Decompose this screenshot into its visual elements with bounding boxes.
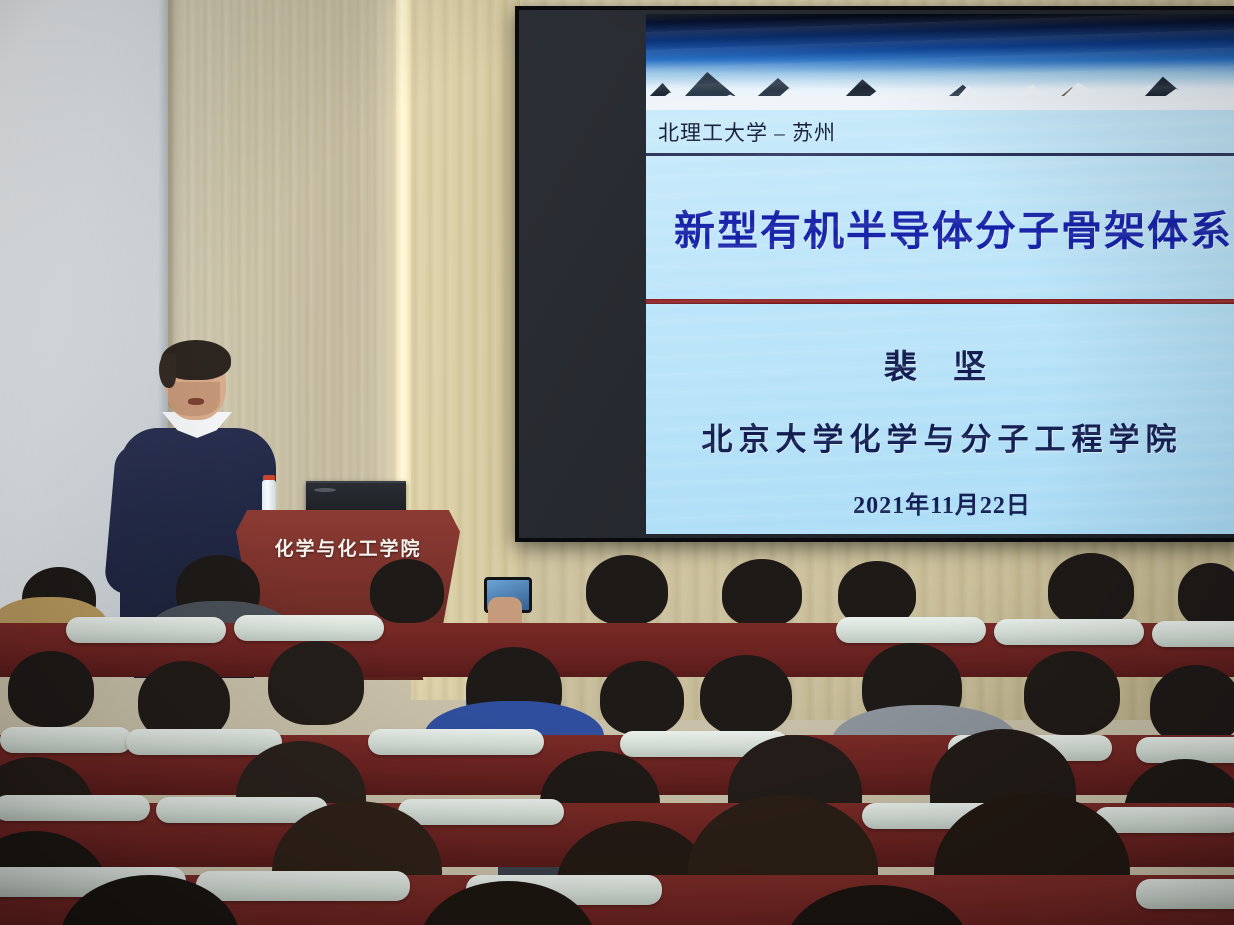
slide-title-rule [646, 299, 1234, 304]
slide-header-rule [646, 153, 1234, 156]
slide-title: 新型有机半导体分子骨架体系的发 [646, 166, 1234, 296]
seat-back-pad[interactable] [126, 729, 282, 755]
seat-back-pad[interactable] [196, 871, 410, 901]
seat-back-pad[interactable] [0, 795, 150, 821]
audience [0, 545, 1234, 925]
presenter-sideburn [159, 354, 176, 388]
slide-title-text: 新型有机半导体分子骨架体系的发 [674, 211, 1234, 252]
audience-head [370, 559, 444, 623]
seat-back-pad[interactable] [368, 729, 544, 755]
slide-header: 北理工大学 – 苏州 [646, 110, 1234, 154]
seat-back-pad[interactable] [234, 615, 384, 641]
audience-head [600, 661, 684, 735]
presentation-display[interactable]: 北理工大学 – 苏州 新型有机半导体分子骨架体系的发 裴 坚 北京大学化学与分子… [515, 6, 1234, 542]
mountain-panorama-banner [646, 14, 1234, 110]
lecture-hall-photo: 北理工大学 – 苏州 新型有机半导体分子骨架体系的发 裴 坚 北京大学化学与分子… [0, 0, 1234, 925]
audience-head [700, 655, 792, 735]
audience-head [8, 651, 94, 727]
slide-speaker-affiliation: 北京大学化学与分子工程学院 [646, 414, 1234, 459]
seat-back-pad[interactable] [66, 617, 226, 643]
presenter-mouth [188, 398, 204, 405]
slide-body: 裴 坚 北京大学化学与分子工程学院 2021年11月22日 [646, 314, 1234, 534]
seat-back-pad[interactable] [836, 617, 986, 643]
audience-head [1150, 665, 1234, 745]
audience-head [268, 641, 364, 725]
audience-head [1024, 651, 1120, 735]
seat-back-pad[interactable] [994, 619, 1144, 645]
projected-slide: 北理工大学 – 苏州 新型有机半导体分子骨架体系的发 裴 坚 北京大学化学与分子… [646, 14, 1234, 534]
slide-speaker-name: 裴 坚 [646, 340, 1234, 388]
seat-back-pad[interactable] [0, 727, 132, 753]
slide-date: 2021年11月22日 [646, 485, 1234, 520]
audience-head [722, 559, 802, 627]
audience-head [586, 555, 668, 625]
seat-back-pad[interactable] [1136, 879, 1234, 909]
audience-head [1178, 563, 1234, 627]
seat-back-pad[interactable] [1152, 621, 1234, 647]
seat-back-pad[interactable] [398, 799, 564, 825]
audience-head [1048, 553, 1134, 627]
slide-header-text: 北理工大学 – 苏州 [658, 117, 836, 147]
